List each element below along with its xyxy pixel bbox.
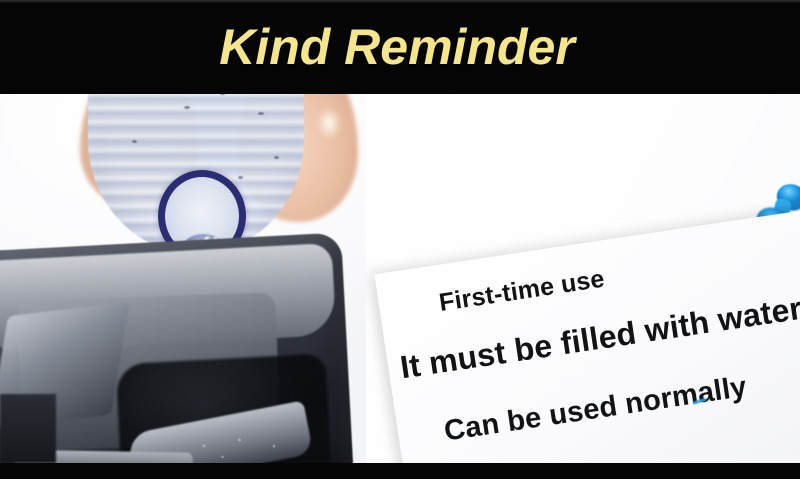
tank-left-shadow	[0, 394, 56, 463]
bottle-speck	[238, 176, 243, 179]
bottle-speck	[184, 106, 190, 109]
bottle-speck	[274, 156, 279, 159]
water-droplets	[193, 431, 306, 463]
bottle-speck	[132, 140, 137, 143]
reminder-image: Kind Reminder	[0, 0, 800, 479]
product-photo	[0, 94, 366, 463]
note-area: First-time use It must be filled with wa…	[366, 94, 800, 463]
page-title: Kind Reminder	[0, 0, 800, 94]
bottle-speck	[258, 112, 264, 115]
reminder-note: First-time use It must be filled with wa…	[374, 205, 800, 463]
bottom-strip	[0, 463, 800, 479]
note-line-1: First-time use	[437, 265, 606, 318]
highlight-glare	[316, 106, 342, 140]
banner: Kind Reminder	[0, 0, 800, 94]
note-line-3: Can be used normally	[442, 371, 749, 449]
